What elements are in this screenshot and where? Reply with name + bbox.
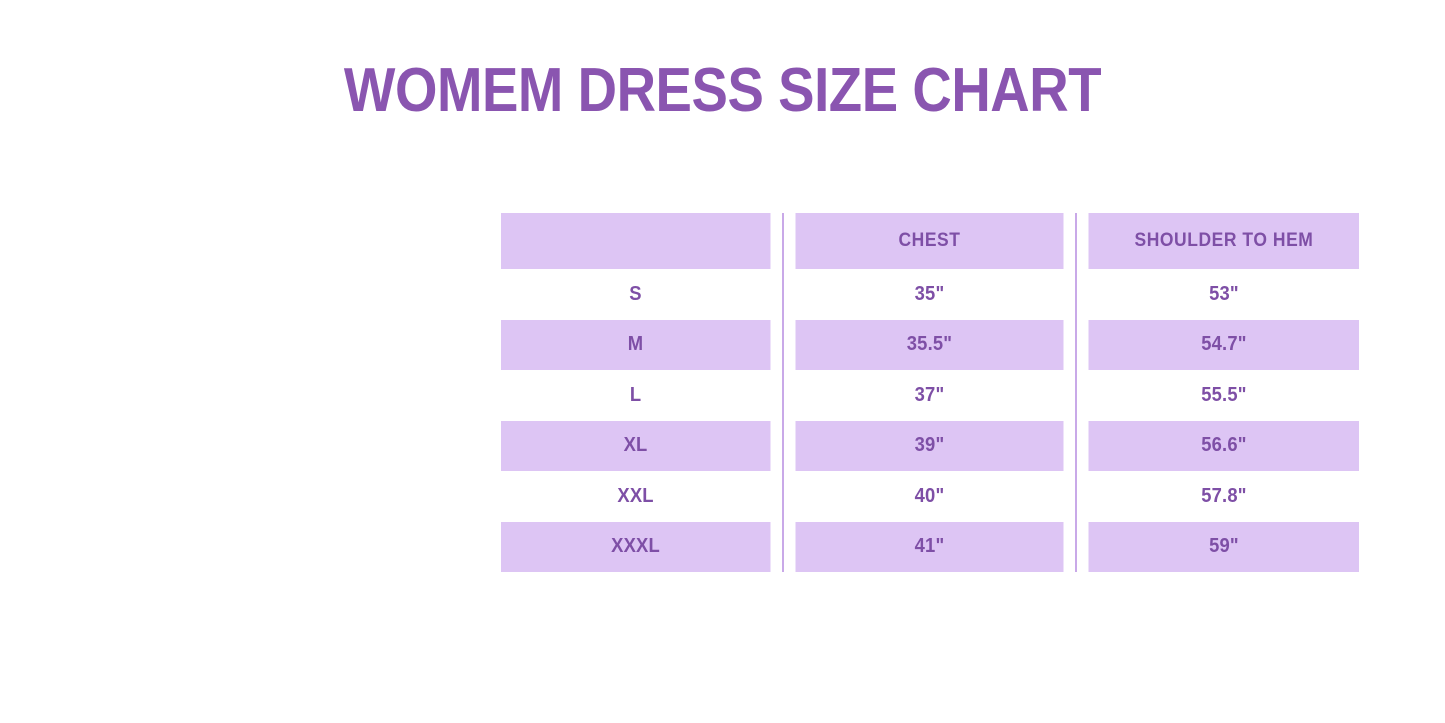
cell-size: XXXL xyxy=(501,522,771,573)
cell-hem: 53" xyxy=(1088,269,1359,320)
table-row: XL 39" 56.6" xyxy=(489,421,1371,472)
cell-size: M xyxy=(501,320,771,371)
column-header-size xyxy=(501,213,771,269)
cell-hem: 55.5" xyxy=(1088,370,1359,421)
size-chart-page: WOMEM DRESS SIZE CHART CHEST SHOULDER TO… xyxy=(0,0,1445,723)
cell-size: L xyxy=(501,370,771,421)
column-header-shoulder-to-hem: SHOULDER TO HEM xyxy=(1088,213,1359,269)
cell-chest: 41" xyxy=(795,522,1065,573)
cell-size: S xyxy=(501,269,771,320)
cell-hem: 59" xyxy=(1088,522,1359,573)
cell-chest: 39" xyxy=(795,421,1065,472)
cell-chest: 35" xyxy=(795,269,1065,320)
cell-hem: 56.6" xyxy=(1088,421,1359,472)
table-header: CHEST SHOULDER TO HEM xyxy=(489,213,1371,269)
cell-size: XXL xyxy=(501,471,771,522)
size-chart-table: CHEST SHOULDER TO HEM S 35" 53" M 35.5" … xyxy=(489,213,1371,572)
cell-chest: 35.5" xyxy=(795,320,1065,371)
page-title: WOMEM DRESS SIZE CHART xyxy=(87,55,1359,126)
table-body: S 35" 53" M 35.5" 54.7" L 37" 55.5" XL 3… xyxy=(489,269,1371,572)
table-row: XXL 40" 57.8" xyxy=(489,471,1371,522)
table-row: XXXL 41" 59" xyxy=(489,522,1371,573)
table-header-row: CHEST SHOULDER TO HEM xyxy=(489,213,1371,269)
cell-chest: 37" xyxy=(795,370,1065,421)
cell-hem: 57.8" xyxy=(1088,471,1359,522)
table-row: L 37" 55.5" xyxy=(489,370,1371,421)
table-row: M 35.5" 54.7" xyxy=(489,320,1371,371)
cell-hem: 54.7" xyxy=(1088,320,1359,371)
column-header-chest: CHEST xyxy=(795,213,1065,269)
cell-size: XL xyxy=(501,421,771,472)
cell-chest: 40" xyxy=(795,471,1065,522)
size-chart-table-container: CHEST SHOULDER TO HEM S 35" 53" M 35.5" … xyxy=(489,213,1371,567)
table-row: S 35" 53" xyxy=(489,269,1371,320)
